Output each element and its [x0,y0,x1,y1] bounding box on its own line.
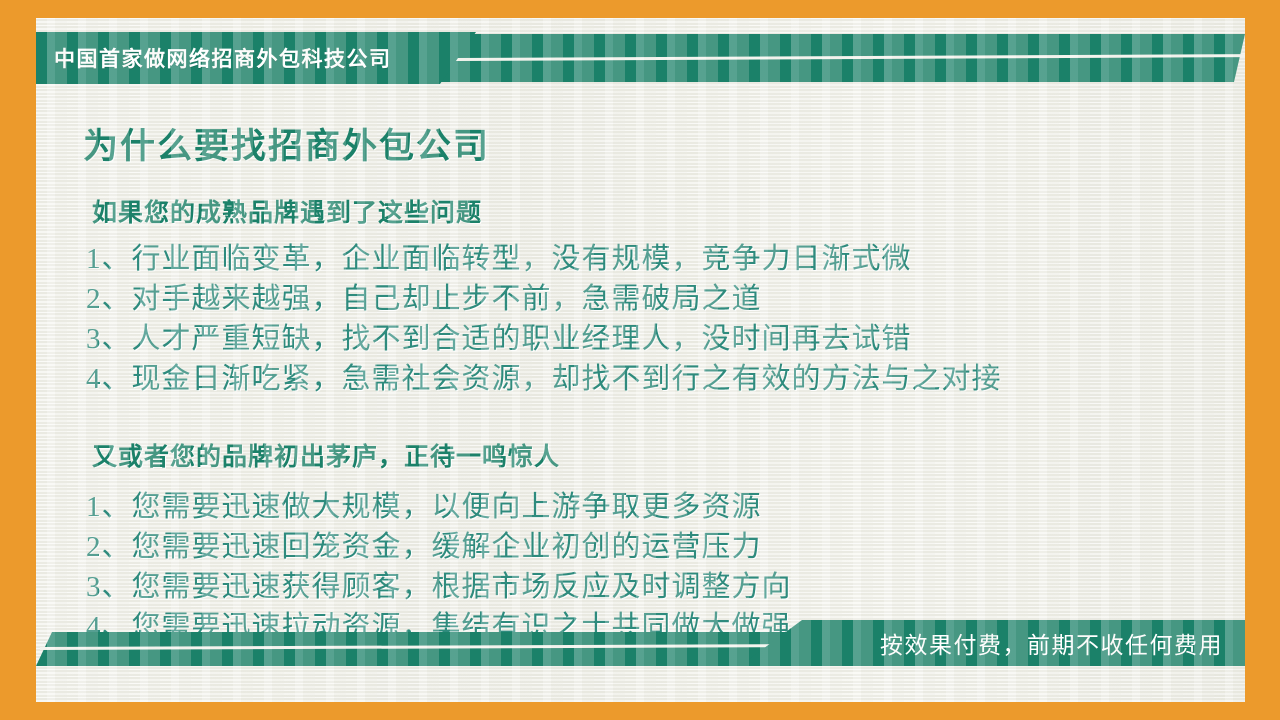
list-item: 3、您需要迅速获得顾客，根据市场反应及时调整方向 [86,567,1245,607]
top-banner-label-block: 中国首家做网络招商外包科技公司 [36,32,476,84]
list-item: 3、人才严重短缺，找不到合适的职业经理人，没时间再去试错 [86,319,1245,359]
bottom-banner-tagline-block: 按效果付费，前期不收任何费用 [740,620,1245,666]
slide-content: 为什么要找招商外包公司 如果您的成熟品牌遇到了这些问题 1、行业面临变革，企业面… [36,82,1245,647]
payment-tagline-label: 按效果付费，前期不收任何费用 [880,626,1245,660]
list-item: 4、现金日渐吃紧，急需社会资源，却找不到行之有效的方法与之对接 [86,359,1245,399]
slide-canvas: 中国首家做网络招商外包科技公司 为什么要找招商外包公司 如果您的成熟品牌遇到了这… [0,0,1280,720]
bottom-banner: 按效果付费，前期不收任何费用 [36,620,1245,666]
list-item: 1、行业面临变革，企业面临转型，没有规模，竞争力日渐式微 [86,239,1245,279]
list-item: 2、对手越来越强，自己却止步不前，急需破局之道 [86,279,1245,319]
list-item: 1、您需要迅速做大规模，以便向上游争取更多资源 [86,487,1245,527]
problem-list-mature-brand: 1、行业面临变革，企业面临转型，没有规模，竞争力日渐式微 2、对手越来越强，自己… [36,229,1245,399]
company-tagline-label: 中国首家做网络招商外包科技公司 [36,43,392,73]
top-banner: 中国首家做网络招商外包科技公司 [36,34,1245,82]
section-heading-new-brand: 又或者您的品牌初出茅庐，正待一鸣惊人 [36,399,1245,473]
page-title: 为什么要找招商外包公司 [36,82,1245,169]
list-item: 2、您需要迅速回笼资金，缓解企业初创的运营压力 [86,527,1245,567]
section-heading-mature-brand: 如果您的成熟品牌遇到了这些问题 [36,169,1245,229]
paper-panel: 中国首家做网络招商外包科技公司 为什么要找招商外包公司 如果您的成熟品牌遇到了这… [36,18,1245,702]
